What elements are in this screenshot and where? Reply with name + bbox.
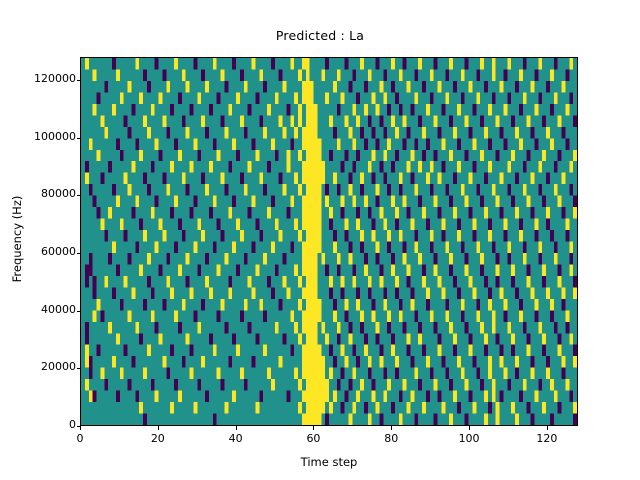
y-tick-label: 120000 (12, 72, 76, 85)
y-tick-mark (77, 311, 81, 312)
y-tick-mark (77, 426, 81, 427)
y-tick-mark (77, 253, 81, 254)
x-tick-label: 80 (361, 432, 421, 445)
x-tick-mark (391, 426, 392, 430)
x-tick-mark (158, 426, 159, 430)
x-tick-mark (80, 426, 81, 430)
x-tick-label: 120 (517, 432, 577, 445)
x-tick-mark (313, 426, 314, 430)
chart-title: Predicted : La (0, 28, 640, 43)
y-axis-label: Frequency (Hz) (10, 159, 24, 319)
y-tick-label: 100000 (12, 130, 76, 143)
y-tick-mark (77, 80, 81, 81)
x-tick-mark (236, 426, 237, 430)
heatmap-mesh (81, 58, 577, 425)
x-tick-mark (547, 426, 548, 430)
x-tick-label: 20 (128, 432, 188, 445)
x-tick-label: 100 (439, 432, 499, 445)
heatmap-axes (80, 57, 578, 426)
y-tick-mark (77, 368, 81, 369)
y-tick-label: 0 (12, 418, 76, 431)
y-tick-mark (77, 195, 81, 196)
x-tick-mark (469, 426, 470, 430)
y-tick-label: 20000 (12, 360, 76, 373)
x-tick-label: 40 (206, 432, 266, 445)
x-tick-label: 0 (50, 432, 110, 445)
x-axis-label: Time step (80, 455, 578, 469)
x-tick-label: 60 (283, 432, 343, 445)
matplotlib-figure: Predicted : La 020406080100120 020000400… (0, 0, 640, 480)
y-tick-mark (77, 138, 81, 139)
